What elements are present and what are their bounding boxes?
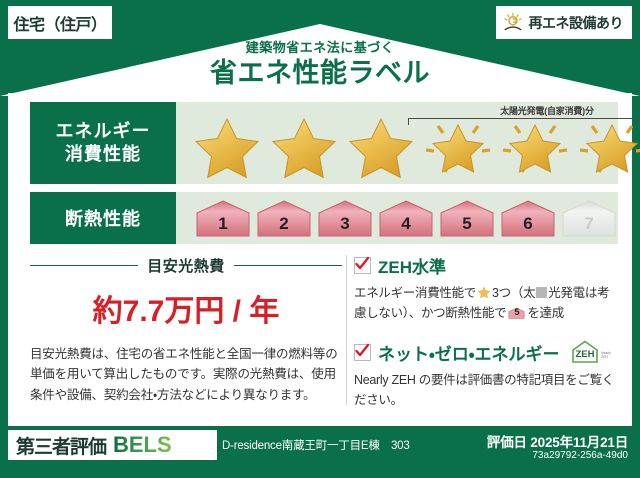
renewable-equipment-label: 再エネ設備あり — [529, 13, 624, 33]
insulation-performance-row: 断熱性能 — [30, 192, 618, 244]
energy-performance-row: エネルギー 消費性能 太陽光発電(自家消費)分 — [30, 102, 618, 184]
insulation-chip-label: 5 — [462, 214, 471, 234]
bels-plate: 第三者評価 BELS — [8, 430, 217, 460]
heading-rule-right — [234, 265, 342, 266]
net-zero-energy-block: ネット・ゼロ・エネルギー ZEH Nearly ZEH Nearly ZEH の… — [354, 339, 618, 410]
net-zero-energy-title: ネット・ゼロ・エネルギー — [378, 340, 560, 365]
renewable-equipment-badge: 再エネ設備あり — [496, 6, 633, 39]
insulation-performance-value: 1 2 3 — [176, 192, 618, 244]
utility-cost-heading-label: 目安光熱費 — [147, 255, 225, 276]
energy-performance-value: 太陽光発電(自家消費)分 — [176, 102, 640, 184]
star-icon — [575, 114, 640, 178]
net-zero-energy-heading: ネット・ゼロ・エネルギー ZEH Nearly ZEH — [354, 339, 618, 365]
building-name: D-residence南蔵王町一丁目E棟 303 — [222, 437, 410, 453]
lower-section: 目安光熱費 約7.7万円 / 年 目安光熱費は、住宅の省エネ性能と全国一律の燃料… — [30, 251, 618, 416]
redacted-character — [536, 287, 547, 298]
certificate-id: 73a29792-256a-49d0 — [532, 450, 628, 461]
evaluation-date: 評価日 2025年11月21日 — [487, 431, 628, 451]
insulation-chip-3: 3 — [316, 198, 374, 238]
zeh-standard-block: ZEH水準 エネルギー消費性能で3つ（太光発電は考慮しない）、かつ断熱性能で5を… — [354, 253, 618, 323]
energy-star-solar — [498, 114, 572, 178]
check-icon — [354, 256, 370, 272]
star-icon — [344, 114, 418, 178]
energy-star — [190, 114, 264, 178]
insulation-chip-4: 4 — [377, 198, 435, 238]
label-body-card: エネルギー 消費性能 太陽光発電(自家消費)分 — [8, 93, 632, 426]
star-icon — [421, 114, 495, 178]
net-zero-energy-body: Nearly ZEH の要件は評価書の特記項目をご覧ください。 — [354, 370, 618, 410]
zeh-body-part3: を達成 — [527, 306, 564, 320]
insulation-chip-label: 3 — [340, 214, 349, 234]
energy-star-solar — [575, 114, 640, 178]
svg-text:ZEH: ZEH — [601, 355, 608, 359]
zeh-standard-body: エネルギー消費性能で3つ（太光発電は考慮しない）、かつ断熱性能で5を達成 — [354, 283, 618, 323]
energy-star-solar — [421, 114, 495, 178]
energy-key-line1: エネルギー — [56, 120, 151, 143]
zeh-logo-icon: ZEH Nearly ZEH — [570, 339, 616, 365]
svg-text:ZEH: ZEH — [575, 349, 594, 360]
utility-cost-amount: 約7.7万円 / 年 — [30, 286, 342, 330]
star-icon — [190, 114, 264, 178]
insulation-chip-label: 1 — [218, 214, 227, 234]
inline-chip-label: 5 — [508, 306, 525, 320]
insulation-chip-1: 1 — [194, 198, 252, 238]
star-icon — [477, 285, 491, 299]
house-type-label: 住宅（住戸） — [13, 11, 106, 35]
star-icon — [267, 114, 341, 178]
zeh-standard-heading: ZEH水準 — [354, 253, 618, 278]
energy-performance-key: エネルギー 消費性能 — [30, 102, 176, 184]
zeh-column: ZEH水準 エネルギー消費性能で3つ（太光発電は考慮しない）、かつ断熱性能で5を… — [342, 251, 618, 416]
insulation-chip-5: 5 — [438, 198, 496, 238]
energy-label-root: 住宅（住戸） 再エネ設備あり 建築物省エネ法に基づく 省エネ性能ラベル エネルギ… — [0, 0, 640, 478]
insulation-chip-label: 6 — [523, 214, 532, 234]
check-icon — [354, 343, 370, 359]
inline-insulation-chip: 5 — [508, 306, 525, 320]
zeh-body-part1: エネルギー消費性能で — [354, 286, 476, 300]
solar-sun-icon — [502, 12, 524, 34]
insulation-chip-6: 6 — [499, 198, 557, 238]
label-title: 建築物省エネ法に基づく 省エネ性能ラベル — [0, 40, 640, 90]
utility-cost-column: 目安光熱費 約7.7万円 / 年 目安光熱費は、住宅の省エネ性能と全国一律の燃料… — [30, 251, 342, 416]
energy-star-rating — [176, 114, 640, 178]
insulation-performance-key: 断熱性能 — [30, 192, 176, 244]
house-type-tag: 住宅（住戸） — [8, 6, 112, 39]
net-zero-energy-checkbox[interactable] — [354, 344, 371, 361]
utility-cost-note: 目安光熱費は、住宅の省エネ性能と全国一律の燃料等の単価を用いて算出したものです。… — [30, 344, 342, 405]
insulation-level-chips: 1 2 3 — [176, 198, 618, 238]
bels-logo: BELS — [113, 433, 201, 457]
insulation-chip-2: 2 — [255, 198, 313, 238]
star-icon — [498, 114, 572, 178]
insulation-chip-label: 4 — [401, 214, 410, 234]
title-subtitle: 建築物省エネ法に基づく — [0, 40, 640, 56]
label-footer: 第三者評価 BELS D-residence南蔵王町一丁目E棟 303 評価日 … — [0, 426, 640, 478]
energy-star — [267, 114, 341, 178]
energy-key-line2: 消費性能 — [65, 143, 141, 166]
insulation-chip-label: 7 — [584, 214, 593, 234]
title-main: 省エネ性能ラベル — [0, 57, 640, 91]
zeh-body-stars: 3つ（太 — [492, 286, 535, 300]
heading-rule-left — [30, 265, 138, 266]
third-party-label: 第三者評価 — [16, 432, 106, 459]
insulation-chip-7: 7 — [560, 198, 618, 238]
utility-cost-heading: 目安光熱費 — [30, 255, 342, 276]
energy-star — [344, 114, 418, 178]
zeh-standard-checkbox[interactable] — [354, 257, 371, 274]
zeh-standard-title: ZEH水準 — [378, 253, 446, 278]
insulation-chip-label: 2 — [279, 214, 288, 234]
bels-logo-text: BELS — [113, 433, 172, 457]
